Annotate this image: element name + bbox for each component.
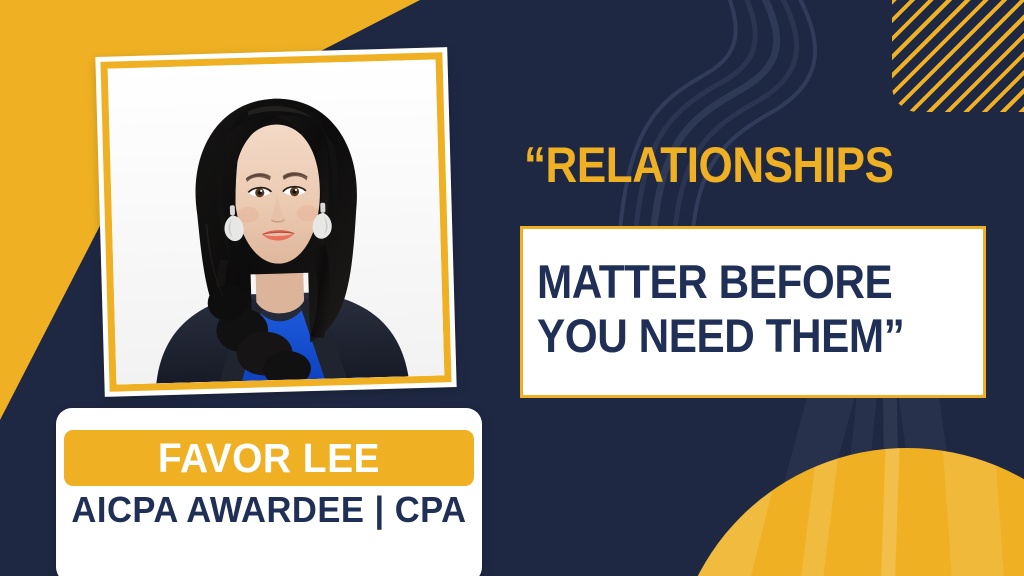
speaker-credentials: AICPA AWARDEE | CPA (65, 490, 474, 530)
quote-line-2: MATTER BEFORE (537, 255, 928, 309)
diagonal-stripes-icon (892, 0, 1024, 112)
name-card: FAVOR LEE AICPA AWARDEE | CPA (56, 408, 482, 576)
circle-band (865, 448, 901, 576)
name-banner: FAVOR LEE (64, 430, 474, 486)
yellow-circle-decoration (672, 448, 1024, 576)
quote-line-3: YOU NEED THEM” (537, 309, 928, 363)
speaker-name: FAVOR LEE (158, 438, 380, 479)
promo-graphic: “RELATIONSHIPS MATTER BEFORE YOU NEED TH… (0, 0, 1024, 576)
winding-road-icon (540, 0, 900, 240)
portrait-photo (108, 59, 445, 384)
quote-line-1: “RELATIONSHIPS (524, 140, 938, 190)
portrait-frame (100, 52, 451, 391)
quote-box: MATTER BEFORE YOU NEED THEM” (520, 226, 986, 398)
portrait-card (95, 47, 456, 397)
